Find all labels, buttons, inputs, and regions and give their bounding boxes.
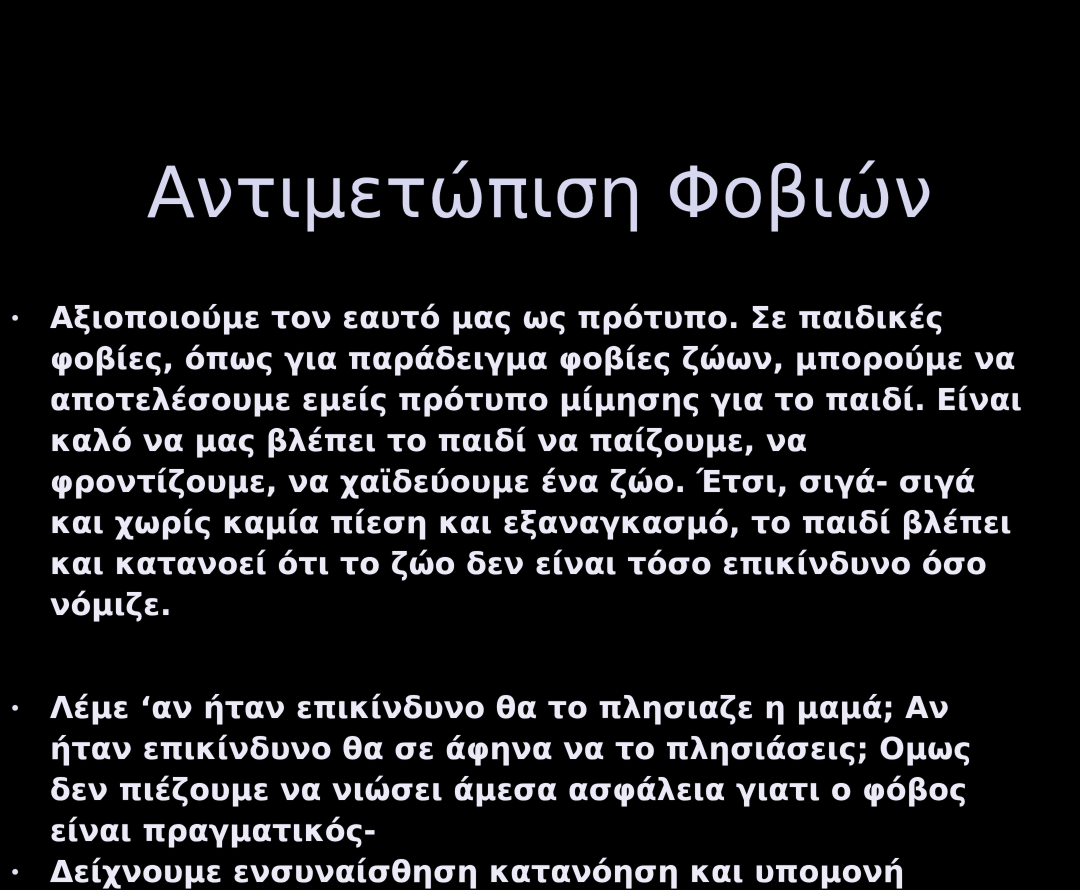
list-item: • Αξιοποιούμε τον εαυτό μας ως πρότυπο. … [0,298,1080,626]
presentation-slide: Αντιμετώπιση Φοβιών • Αξιοποιούμε τον εα… [0,0,1080,890]
list-item: • Δείχνουμε ενσυναίσθηση κατανόηση και υ… [0,852,1080,890]
list-item: • Λέμε ʻαν ήταν επικίνδυνο θα το πλησιαζ… [0,688,1080,852]
bullet-dot-icon: • [10,298,24,339]
bullet-dot-icon: • [10,852,24,890]
list-item-text: Αξιοποιούμε τον εαυτό μας ως πρότυπο. Σε… [50,298,1034,626]
paragraph-spacer [0,626,1080,688]
page-title: Αντιμετώπιση Φοβιών [0,151,1080,235]
bullet-dot-icon: • [10,688,24,729]
slide-body: • Αξιοποιούμε τον εαυτό μας ως πρότυπο. … [0,298,1080,890]
list-item-text: Λέμε ʻαν ήταν επικίνδυνο θα το πλησιαζε … [50,688,1034,852]
list-item-text: Δείχνουμε ενσυναίσθηση κατανόηση και υπο… [50,852,1034,890]
